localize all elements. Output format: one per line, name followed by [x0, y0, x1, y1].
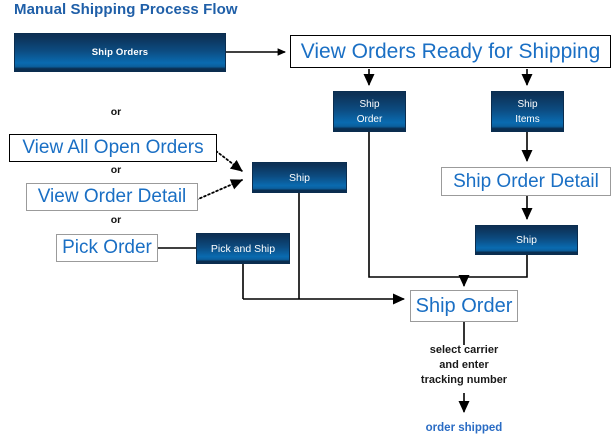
node-view-order-detail[interactable]: View Order Detail	[26, 183, 198, 211]
node-ship-items-small-line2: Items	[515, 112, 539, 127]
node-ship-order-final-label: Ship Order	[416, 295, 513, 318]
node-ship-order-small-line2: Order	[357, 112, 383, 127]
node-view-all-open-orders[interactable]: View All Open Orders	[9, 134, 217, 162]
node-ship-middle[interactable]: Ship	[252, 162, 347, 193]
node-pick-order[interactable]: Pick Order	[56, 234, 158, 262]
node-view-orders-ready[interactable]: View Orders Ready for Shipping	[290, 35, 611, 68]
node-view-all-open-orders-label: View All Open Orders	[22, 137, 203, 159]
or-label-3: or	[60, 214, 172, 226]
edge-shipright-merge	[464, 255, 527, 277]
node-pick-and-ship-label: Pick and Ship	[211, 243, 275, 255]
flowchart-canvas: Manual Shipping Process Flow Ship Orders…	[0, 0, 614, 443]
node-view-orders-ready-label: View Orders Ready for Shipping	[301, 40, 601, 64]
node-view-order-detail-label: View Order Detail	[38, 186, 187, 208]
node-ship-middle-label: Ship	[289, 172, 310, 184]
terminal-order-shipped: order shipped	[394, 422, 534, 434]
page-title: Manual Shipping Process Flow	[14, 1, 238, 18]
node-ship-order-final[interactable]: Ship Order	[410, 290, 518, 322]
node-ship-order-small[interactable]: Ship Order	[333, 91, 406, 132]
edge-shiporder-merge	[369, 132, 464, 277]
node-ship-orders[interactable]: Ship Orders	[14, 33, 226, 72]
or-label-1: or	[60, 106, 172, 118]
node-ship-right[interactable]: Ship	[475, 225, 578, 255]
node-pick-and-ship[interactable]: Pick and Ship	[196, 233, 290, 264]
carrier-note: select carrier and enter tracking number	[394, 343, 534, 388]
node-ship-items-small-line1: Ship	[517, 97, 537, 112]
node-pick-order-label: Pick Order	[62, 237, 152, 259]
node-ship-right-label: Ship	[516, 234, 537, 246]
carrier-note-line-1: select carrier	[394, 343, 534, 358]
or-label-2: or	[60, 164, 172, 176]
node-ship-order-small-line1: Ship	[359, 97, 379, 112]
edge-viewallopenorders-to-shipmiddle	[216, 151, 242, 171]
node-ship-orders-label: Ship Orders	[92, 47, 149, 58]
carrier-note-line-3: tracking number	[394, 373, 534, 388]
node-ship-order-detail-label: Ship Order Detail	[453, 171, 599, 193]
carrier-note-line-2: and enter	[394, 358, 534, 373]
node-ship-items-small[interactable]: Ship Items	[491, 91, 564, 132]
edge-vieworderdetail-to-shipmiddle	[196, 180, 242, 200]
node-ship-order-detail[interactable]: Ship Order Detail	[441, 167, 611, 196]
